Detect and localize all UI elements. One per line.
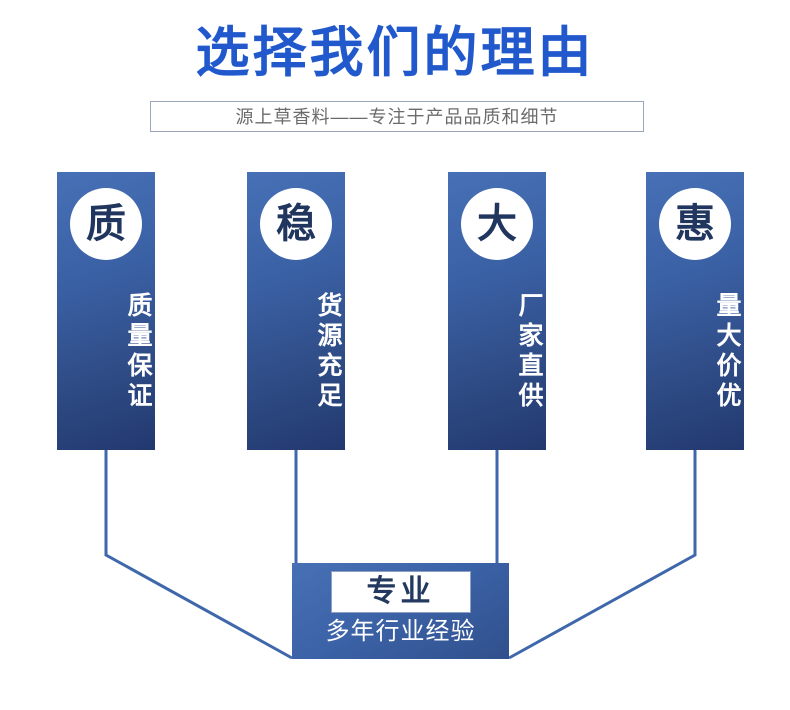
pillar-4-label-wrap: 量大价优: [646, 292, 744, 412]
pillar-3-label: 厂家直供: [448, 292, 546, 412]
pillar-2-badge-circle: 稳: [260, 188, 332, 260]
pillar-card-1[interactable]: 质 质量保证: [57, 172, 155, 450]
pillar-2-initial: 稳: [276, 204, 316, 244]
pillar-card-3[interactable]: 大 厂家直供: [448, 172, 546, 450]
summary-card[interactable]: 专业 多年行业经验: [292, 563, 509, 659]
connector-pillar-4: [509, 450, 695, 658]
pillar-4-initial: 惠: [675, 204, 715, 244]
pillar-2-label-wrap: 货源充足: [247, 292, 345, 412]
pillar-3-label-wrap: 厂家直供: [448, 292, 546, 412]
pillar-3-initial: 大: [477, 204, 517, 244]
pillar-1-initial: 质: [86, 204, 126, 244]
infographic-canvas: 选择我们的理由 源上草香料——专注于产品品质和细节 质 质量保证 稳 货源充足: [0, 0, 790, 710]
pillar-card-4[interactable]: 惠 量大价优: [646, 172, 744, 450]
pillar-3-badge-circle: 大: [461, 188, 533, 260]
pillar-4-badge-circle: 惠: [659, 188, 731, 260]
pillar-1-label: 质量保证: [57, 292, 155, 412]
pillar-2-label: 货源充足: [247, 292, 345, 412]
summary-badge-text: 专业: [367, 576, 435, 608]
summary-badge: 专业: [331, 571, 471, 613]
pillar-1-badge-circle: 质: [70, 188, 142, 260]
summary-caption: 多年行业经验: [326, 618, 476, 646]
pillar-1-label-wrap: 质量保证: [57, 292, 155, 412]
connector-pillar-1: [106, 450, 292, 658]
pillar-4-label: 量大价优: [646, 292, 744, 412]
pillar-card-2[interactable]: 稳 货源充足: [247, 172, 345, 450]
